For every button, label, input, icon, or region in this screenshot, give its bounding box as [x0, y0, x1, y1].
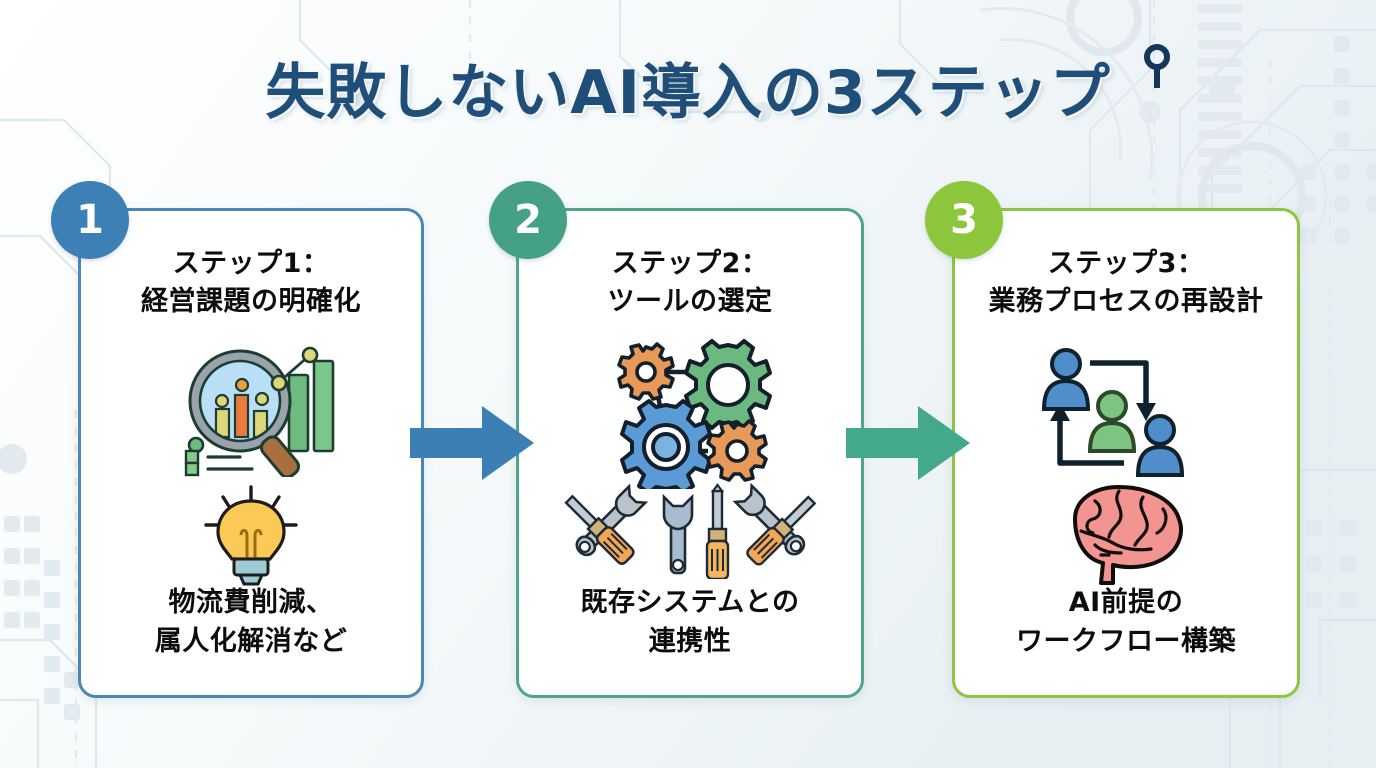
step-card-3-footer-line2: ワークフロー構築	[955, 623, 1297, 661]
step-card-1-heading-line2: 経営課題の明確化	[141, 283, 361, 321]
step-badge-2: 2	[489, 181, 567, 259]
tools-icon	[519, 483, 861, 579]
step-card-2-heading-line1: ステップ2：	[612, 248, 769, 279]
step-card-3-heading: ステップ3： 業務プロセスの再設計	[989, 245, 1264, 322]
step-card-2-heading-line2: ツールの選定	[608, 283, 773, 321]
step-card-2-footer: 既存システムとの 連携性	[519, 584, 861, 661]
step-card-3-heading-line1: ステップ3：	[1048, 248, 1205, 279]
step-badge-3: 3	[925, 181, 1003, 259]
step-card-2[interactable]: ステップ2： ツールの選定	[516, 208, 864, 698]
step-card-1-footer: 物流費削減、 属人化解消など	[81, 584, 421, 661]
step-card-1-heading-line1: ステップ1：	[173, 248, 330, 279]
step-card-3-heading-line2: 業務プロセスの再設計	[989, 283, 1264, 321]
people-workflow-icon	[955, 339, 1297, 479]
brain-icon	[955, 483, 1297, 587]
step-badge-1: 1	[51, 181, 129, 259]
magnifier-chart-icon	[81, 339, 421, 477]
arrow-step2-to-step3	[846, 406, 970, 480]
lightbulb-icon	[81, 483, 421, 593]
step-card-3[interactable]: ステップ3： 業務プロセスの再設計	[952, 208, 1300, 698]
slide-canvas: 失敗しないAI導入の3ステップ ステップ1： 経営課題の明確化	[0, 0, 1376, 768]
step-card-1-heading: ステップ1： 経営課題の明確化	[141, 245, 361, 322]
slide-title: 失敗しないAI導入の3ステップ	[0, 44, 1376, 131]
step-card-1-footer-line1: 物流費削減、	[169, 587, 334, 618]
step-card-1-footer-line2: 属人化解消など	[81, 623, 421, 661]
step-card-2-footer-line1: 既存システムとの	[581, 587, 800, 618]
step-card-1[interactable]: ステップ1： 経営課題の明確化	[78, 208, 424, 698]
step-card-2-heading: ステップ2： ツールの選定	[608, 245, 773, 322]
gears-icon	[519, 339, 861, 489]
step-card-2-footer-line2: 連携性	[519, 623, 861, 661]
step-card-3-footer: AI前提の ワークフロー構築	[955, 584, 1297, 661]
step-card-3-footer-line1: AI前提の	[1069, 587, 1183, 618]
arrow-step1-to-step2	[410, 406, 534, 480]
